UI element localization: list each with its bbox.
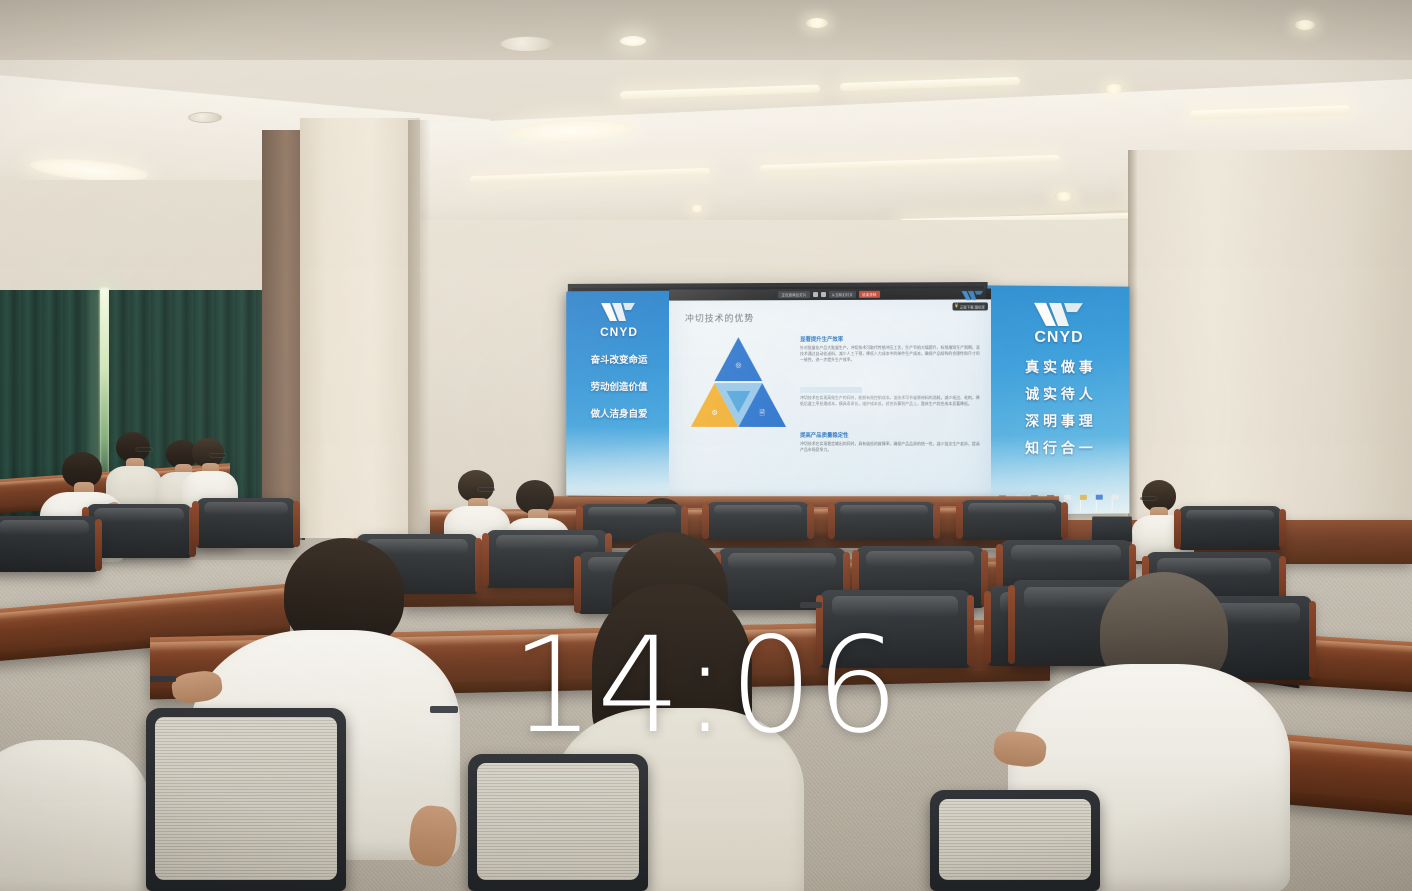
- torso: [0, 740, 150, 891]
- banner-left-sky-graphic: [566, 426, 672, 496]
- slide-block-1: 显著提升生产效率 针对批量化产品大批量生产，冲切技术可取代传统冲压工艺，生产节拍…: [800, 335, 981, 364]
- pillar: [300, 118, 420, 538]
- banner-left-slogan-2: 劳动创造价值: [566, 379, 672, 393]
- chair-center-back-2[interactable]: [706, 502, 810, 540]
- ceiling-speaker-icon: [188, 112, 222, 123]
- slide-block-3-body: 冲切技术在实现稳定输出的同时，具有极低的故障率，确保产品品质的统一性，减少批次生…: [800, 441, 981, 453]
- slide-title: 冲切技术的优势: [685, 311, 754, 324]
- banner-right: CNYD 真 实 做 事 诚 实 待 人 深 明 事 理 知 行 合 一: [988, 285, 1130, 514]
- watermark-badge-label: 正版下载 图标库: [960, 304, 985, 309]
- chair-back-left-3[interactable]: [0, 516, 98, 572]
- slide-block-1-body: 针对批量化产品大批量生产，冲切技术可取代传统冲压工艺，生产节拍大幅提升，有效缩短…: [800, 345, 981, 364]
- glasses-icon: [478, 488, 495, 491]
- banner-right-slogan-1: 真 实 做 事: [988, 357, 1130, 377]
- pyramid-diagram: ◎ ⚙ 🗎: [691, 337, 786, 449]
- document-icon: 🗎: [756, 409, 768, 420]
- toolbar-left-chip[interactable]: 正在放映幻灯片: [779, 291, 810, 298]
- down-triangle-icon: [726, 391, 750, 413]
- target-icon: ◎: [732, 361, 744, 369]
- slide-block-2-body: 冲切技术在实现高效生产的同时，能够有效控制成本。该技术可节省原材料的消耗，减少毛…: [800, 395, 981, 407]
- chair-back-left-2[interactable]: [196, 498, 296, 548]
- ceiling-downlight: [1295, 20, 1315, 30]
- chair-center-back-3[interactable]: [832, 502, 936, 540]
- ceiling-downlight: [690, 205, 704, 212]
- banner-left-slogan-3: 做人洁身自爱: [566, 406, 672, 420]
- glasses-icon: [136, 448, 152, 451]
- mesh-chair-center[interactable]: [468, 754, 648, 891]
- cnyd-logo-icon: [960, 290, 986, 301]
- currency-icon: ¥: [955, 304, 958, 310]
- pencil-icon[interactable]: [813, 292, 818, 297]
- banner-right-slogan-2: 诚 实 待 人: [988, 384, 1130, 404]
- banner-left-brand: CNYD: [566, 325, 672, 339]
- slide-block-2-heading: [800, 387, 862, 393]
- chair-front-1[interactable]: [820, 590, 970, 668]
- slide-block-3: 提高产品质量稳定性 冲切技术在实现稳定输出的同时，具有极低的故障率，确保产品品质…: [800, 431, 981, 453]
- cnyd-logo-icon: [599, 301, 639, 323]
- banner-right-brand: CNYD: [988, 329, 1130, 348]
- meeting-room-photo: CNYD 奋斗改变命运 劳动创造价值 做人洁身自爱 CNYD 真 实 做 事 诚…: [0, 0, 1412, 891]
- ceiling-downlight: [1104, 84, 1124, 94]
- ceiling-downlight: [806, 18, 828, 28]
- presenter-laptop[interactable]: [1092, 517, 1132, 542]
- desk-object-remote[interactable]: [150, 676, 176, 682]
- ceiling-strip-light: [840, 77, 1020, 91]
- pillar-side-dark: [262, 130, 302, 540]
- ceiling-strip-light: [620, 85, 820, 100]
- window-light-gap: [100, 288, 109, 488]
- gears-icon: ⚙: [709, 409, 721, 417]
- slide-block-2: 冲切技术在实现高效生产的同时，能够有效控制成本。该技术可节省原材料的消耗，减少毛…: [800, 387, 981, 407]
- banner-left: CNYD 奋斗改变命运 劳动创造价值 做人洁身自爱: [566, 291, 672, 497]
- toolbar-mid-chip[interactable]: 从当前幻灯片: [829, 291, 857, 298]
- ceiling-downlight: [1055, 192, 1073, 201]
- glasses-icon: [210, 454, 226, 457]
- ceiling-speaker-icon: [500, 36, 554, 52]
- powerpoint-toolbar[interactable]: 正在放映幻灯片 从当前幻灯片 结束放映: [669, 288, 991, 300]
- pillar-shadow: [408, 120, 430, 540]
- banner-right-slogan-3: 深 明 事 理: [988, 411, 1130, 431]
- watermark-badge: ¥ 正版下载 图标库: [952, 302, 988, 310]
- toolbar-end-show-chip[interactable]: 结束放映: [859, 291, 879, 298]
- desk-object-phone[interactable]: [430, 706, 458, 713]
- presentation-slide[interactable]: 正在放映幻灯片 从当前幻灯片 结束放映 ¥ 正版下载 图标库 冲切技术的优势 ◎…: [669, 288, 991, 511]
- banner-left-slogan-1: 奋斗改变命运: [566, 352, 672, 366]
- mesh-chair-right[interactable]: [930, 790, 1100, 891]
- ceiling-panel-light: [620, 36, 646, 46]
- cnyd-logo-icon: [1031, 300, 1087, 328]
- pyramid-segment-top: [715, 337, 763, 381]
- chair-presenter[interactable]: [1178, 506, 1282, 550]
- slide-block-3-heading: 提高产品质量稳定性: [800, 431, 981, 439]
- glasses-icon: [1140, 497, 1156, 500]
- mesh-chair-left[interactable]: [146, 708, 346, 891]
- slide-block-1-heading: 显著提升生产效率: [800, 335, 981, 343]
- desk-object-pen[interactable]: [800, 602, 822, 608]
- ceiling-upper-plane: [0, 0, 1412, 60]
- pointer-icon[interactable]: [821, 292, 826, 297]
- chair-center-back-4[interactable]: [960, 500, 1064, 540]
